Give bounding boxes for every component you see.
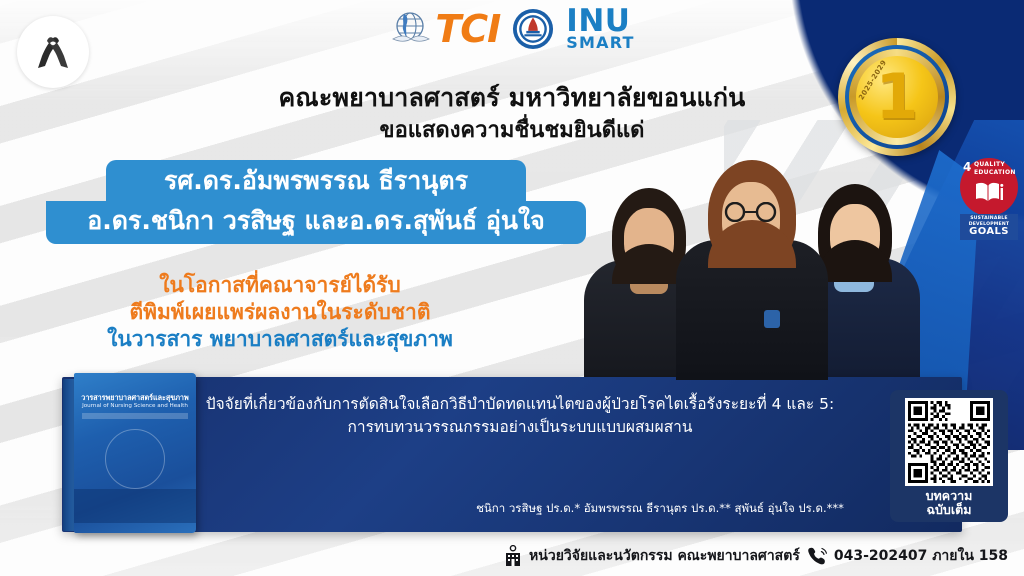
khon-kaen-university-seal-icon: [512, 8, 554, 50]
occasion-line-3: ในวารสาร พยาบาลศาสตร์และสุขภาพ: [0, 326, 560, 353]
qr-code-icon[interactable]: [905, 398, 993, 486]
article-title-line2: การทบทวนวรรณกรรมอย่างเป็นระบบแบบผสมผสาน: [195, 416, 845, 439]
person-center-glasses-icon: [720, 202, 782, 222]
smart-label: SMART: [566, 35, 634, 51]
article-title: ปัจจัยที่เกี่ยวข้องกับการตัดสินใจเลือกวิ…: [195, 393, 845, 440]
article-title-line1: ปัจจัยที่เกี่ยวข้องกับการตัดสินใจเลือกวิ…: [195, 393, 845, 416]
sdg-footer-line2: GOALS: [960, 227, 1018, 237]
open-book-icon: [974, 180, 1004, 204]
occasion-line-1: ในโอกาสที่คณาจารย์ได้รับ: [0, 272, 560, 299]
journal-book-cover: วารสารพยาบาลศาสตร์และสุขภาพ Journal of N…: [63, 373, 196, 533]
journal-title-en: Journal of Nursing Science and Health: [74, 403, 196, 409]
journal-seal-icon: [105, 429, 165, 489]
research-building-icon: [503, 545, 523, 567]
qr-caption-line1: บทความ: [890, 489, 1008, 503]
tci-thailand-globe-book-icon: [389, 9, 433, 49]
honoree-name-2: อ.ดร.ชนิกา วรสิษฐ และอ.ดร.สุพันธ์ อุ่นใจ: [46, 201, 586, 244]
faculty-group-photo: [548, 128, 878, 380]
sdg-title-line1: QUALITY: [974, 161, 1005, 168]
qr-caption: บทความ ฉบับเต็ม: [890, 489, 1008, 518]
article-authors: ชนิกา วรสิษฐ ปร.ด.* อัมพรพรรณ ธีรานุตร ป…: [430, 500, 890, 518]
footer-unit-name: หน่วยวิจัยและนวัตกรรม คณะพยาบาลศาสตร์: [529, 545, 800, 567]
congratulations-poster: TCI INU SMART คณะพยาบาลศาสตร์ มหาวิทยาลั…: [0, 0, 1024, 576]
sdg-number: 4: [963, 160, 971, 174]
sdg-title-line2: EDUCATION: [974, 169, 1016, 176]
qr-block[interactable]: บทความ ฉบับเต็ม: [890, 390, 1008, 522]
person-center: [676, 152, 828, 380]
qr-caption-line2: ฉบับเต็ม: [890, 503, 1008, 517]
person-center-pin-icon: [764, 310, 780, 328]
honoree-banner: รศ.ดร.อัมพรพรรณ ธีรานุตร อ.ดร.ชนิกา วรสิ…: [0, 160, 620, 244]
occasion-text: ในโอกาสที่คณาจารย์ได้รับ ตีพิมพ์เผยแพร่ผ…: [0, 272, 560, 353]
qr-code-matrix: [908, 401, 990, 483]
footer-phone-number: 043-202407 ภายใน 158: [834, 545, 1008, 567]
book-front: วารสารพยาบาลศาสตร์และสุขภาพ Journal of N…: [74, 373, 196, 533]
medal-face: 1: [856, 56, 938, 138]
tci-logo: TCI: [389, 9, 500, 49]
sdg-badge: 4 QUALITY EDUCATION SUSTAINABLE DEVELOPM…: [960, 158, 1020, 246]
sdg-footer: SUSTAINABLE DEVELOPMENT GOALS: [960, 214, 1018, 240]
occasion-line-2: ตีพิมพ์เผยแพร่ผลงานในระดับชาติ: [0, 299, 560, 326]
journal-subtitle-bar: [82, 413, 188, 419]
tci-wordmark: TCI: [435, 10, 500, 48]
footer-bar: หน่วยวิจัยและนวัตกรรม คณะพยาบาลศาสตร์ 04…: [0, 542, 1024, 570]
journal-footer-band: [74, 489, 196, 523]
phone-icon: [806, 546, 828, 566]
inu-smart-wordmark: INU SMART: [566, 6, 634, 51]
honoree-name-1: รศ.ดร.อัมพรพรรณ ธีรานุตร: [106, 160, 526, 201]
medal-rank: 1: [875, 66, 918, 128]
sdg-circle: 4 QUALITY EDUCATION: [960, 158, 1018, 216]
